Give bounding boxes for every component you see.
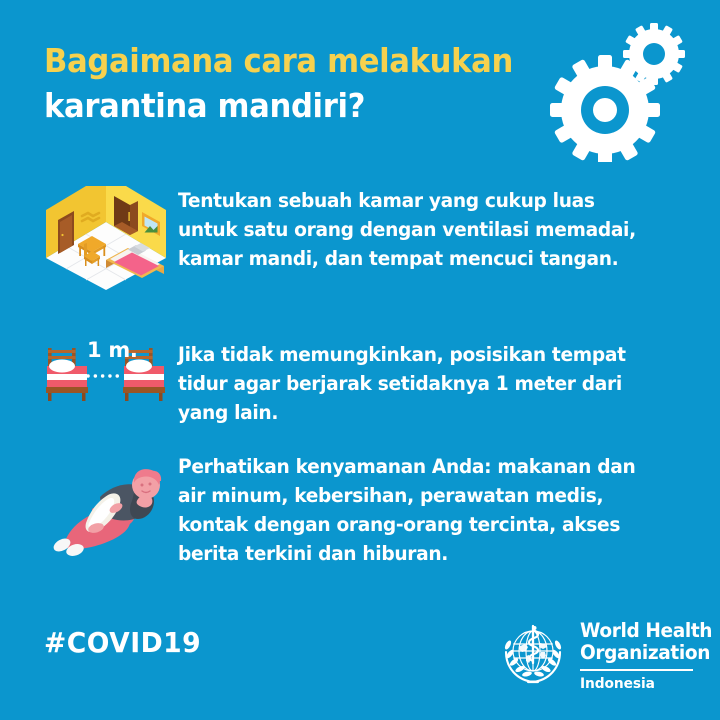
tip-2-text: Jika tidak memungkinkan, posisikan tempa… [178,340,656,427]
tip-3-text: Perhatikan kenyamanan Anda: makanan dan … [178,452,656,568]
who-divider [580,669,693,671]
infographic-poster: Bagaimana cara melakukan karantina mandi… [0,0,720,720]
bed-left [46,348,88,401]
person-lying-reading-icon [42,457,170,557]
distance-label: 1 m. [87,338,138,362]
title-line-1: Bagaimana cara melakukan [44,38,528,83]
tip-1-text: Tentukan sebuah kamar yang cukup luas un… [178,186,656,273]
who-name-line-1: World Health [580,620,692,642]
who-logo: World Health Organization Indonesia [496,614,696,698]
title-line-2: karantina mandiri? [44,83,528,128]
two-beds-distance-icon: 1 m. [42,342,170,404]
who-wordmark: World Health Organization Indonesia [580,620,698,692]
who-emblem-icon [496,616,570,690]
who-name-line-2: Organization [580,642,692,664]
page-title: Bagaimana cara melakukan karantina mandi… [44,38,564,128]
isometric-bedroom-icon [42,186,170,290]
hashtag-covid19: #COVID19 [44,626,201,659]
gear-icon [548,22,698,162]
who-country-label: Indonesia [580,676,692,692]
